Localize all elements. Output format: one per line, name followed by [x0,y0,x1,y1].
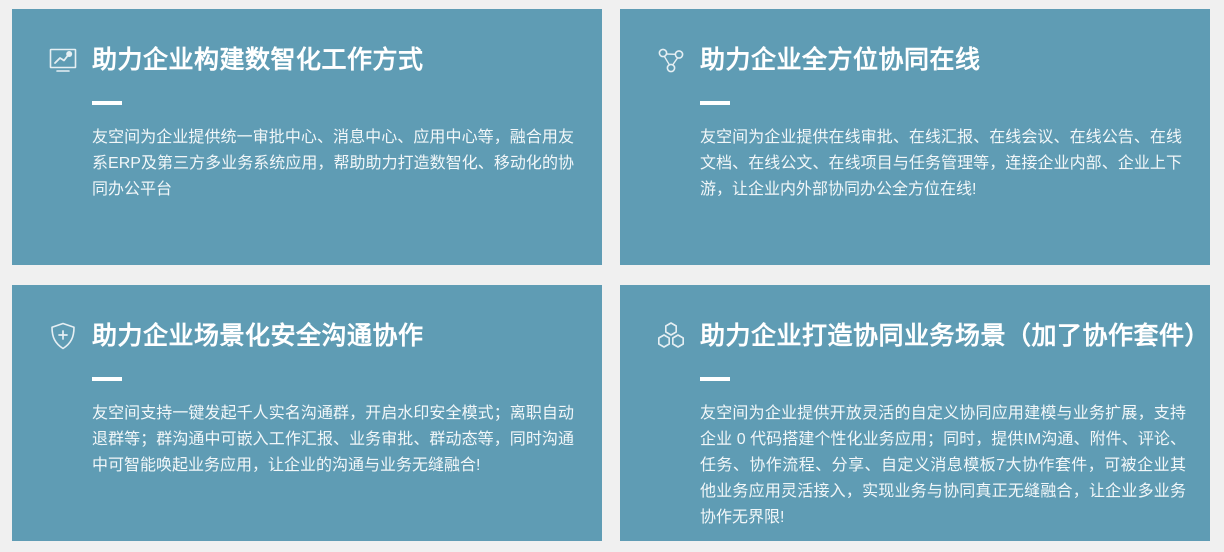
shield-plus-icon [46,319,80,353]
card-description: 友空间为企业提供在线审批、在线汇报、在线会议、在线公告、在线文档、在线公文、在线… [700,125,1182,203]
card-title: 助力企业全方位协同在线 [700,43,981,77]
feature-card-grid: 助力企业构建数智化工作方式 友空间为企业提供统一审批中心、消息中心、应用中心等，… [12,9,1210,541]
chart-monitor-icon [46,43,80,77]
title-divider [700,377,730,381]
feature-card-1[interactable]: 助力企业构建数智化工作方式 友空间为企业提供统一审批中心、消息中心、应用中心等，… [12,9,602,265]
feature-card-4[interactable]: 助力企业打造协同业务场景（加了协作套件） 友空间为企业提供开放灵活的自定义协同应… [620,285,1210,541]
card-header: 助力企业全方位协同在线 [620,9,1210,79]
card-header: 助力企业打造协同业务场景（加了协作套件） [620,285,1210,355]
feature-card-2[interactable]: 助力企业全方位协同在线 友空间为企业提供在线审批、在线汇报、在线会议、在线公告、… [620,9,1210,265]
card-title: 助力企业打造协同业务场景（加了协作套件） [700,319,1210,353]
card-description: 友空间为企业提供开放灵活的自定义协同应用建模与业务扩展，支持企业 0 代码搭建个… [700,401,1186,531]
feature-card-3[interactable]: 助力企业场景化安全沟通协作 友空间支持一键发起千人实名沟通群，开启水印安全模式；… [12,285,602,541]
title-divider [92,377,122,381]
card-header: 助力企业构建数智化工作方式 [12,9,602,79]
title-divider [700,101,730,105]
title-divider [92,101,122,105]
network-nodes-icon [654,43,688,77]
card-description: 友空间支持一键发起千人实名沟通群，开启水印安全模式；离职自动退群等；群沟通中可嵌… [92,401,574,479]
card-title: 助力企业场景化安全沟通协作 [92,319,424,353]
card-header: 助力企业场景化安全沟通协作 [12,285,602,355]
hexagon-cluster-icon [654,319,688,353]
card-title: 助力企业构建数智化工作方式 [92,43,424,77]
card-description: 友空间为企业提供统一审批中心、消息中心、应用中心等，融合用友系ERP及第三方多业… [92,125,574,203]
